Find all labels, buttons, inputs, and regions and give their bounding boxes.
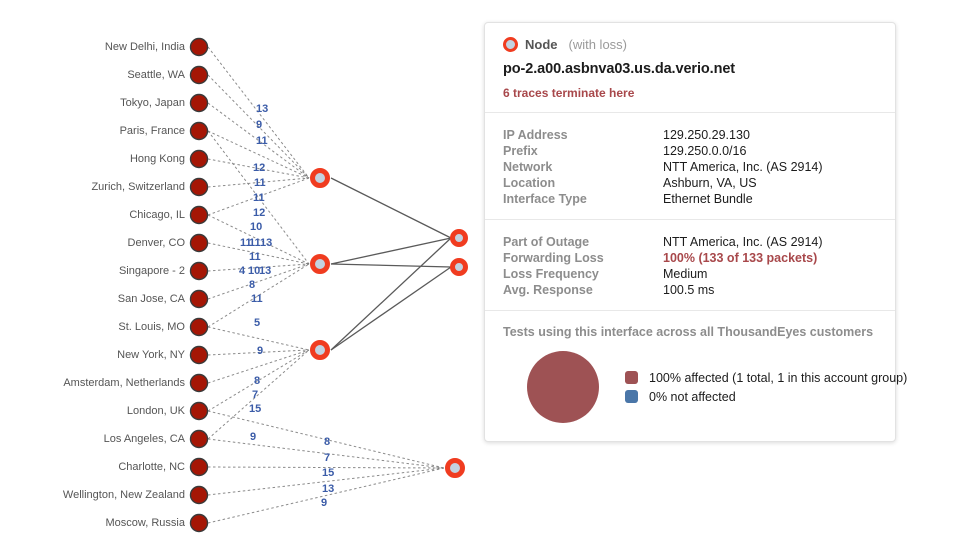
outage-info-section: Part of OutageNTT America, Inc. (AS 2914…	[485, 220, 895, 310]
edge-hop-count: 9	[250, 432, 256, 443]
legend-item: 0% not affected	[625, 390, 907, 404]
info-row-key: Part of Outage	[503, 234, 663, 250]
edge-hop-count: 5	[254, 318, 260, 329]
graph-edge-solid	[331, 238, 451, 350]
edge-hop-count: 12	[253, 208, 265, 219]
edge-hop-count: 8	[254, 376, 260, 387]
terminal-node-2[interactable]	[453, 261, 466, 274]
graph-edge-solid	[331, 267, 451, 350]
edge-hop-count: 11	[253, 193, 265, 204]
source-label: St. Louis, MO	[118, 321, 185, 333]
info-row-value: Ethernet Bundle	[663, 191, 877, 207]
hub-node-3[interactable]	[313, 343, 328, 358]
info-row-value: 129.250.0.0/16	[663, 143, 877, 159]
outage-info-table: Part of OutageNTT America, Inc. (AS 2914…	[503, 234, 877, 298]
source-node-15[interactable]	[191, 459, 208, 476]
info-row-key: Loss Frequency	[503, 266, 663, 282]
source-node-12[interactable]	[191, 375, 208, 392]
source-label: Wellington, New Zealand	[63, 489, 185, 501]
info-row-key: Forwarding Loss	[503, 250, 663, 266]
node-kind-qualifier: (with loss)	[569, 37, 628, 52]
source-node-3[interactable]	[191, 123, 208, 140]
edge-hop-count: 15	[322, 468, 334, 479]
source-node-5[interactable]	[191, 179, 208, 196]
source-label: New York, NY	[117, 349, 185, 361]
info-row: Loss FrequencyMedium	[503, 266, 877, 282]
info-row: Avg. Response100.5 ms	[503, 282, 877, 298]
edge-hop-count: 8	[324, 437, 330, 448]
node-ring-icon	[503, 37, 518, 52]
edge-hop-count: 13	[260, 238, 272, 249]
source-node-2[interactable]	[191, 95, 208, 112]
source-node-16[interactable]	[191, 487, 208, 504]
source-node-0[interactable]	[191, 39, 208, 56]
source-node-11[interactable]	[191, 347, 208, 364]
info-row-value: 129.250.29.130	[663, 127, 877, 143]
info-row: Prefix129.250.0.0/16	[503, 143, 877, 159]
source-label: Los Angeles, CA	[104, 433, 185, 445]
edge-hop-count: 11	[256, 136, 268, 147]
source-node-8[interactable]	[191, 263, 208, 280]
source-label: London, UK	[127, 405, 185, 417]
info-row: NetworkNTT America, Inc. (AS 2914)	[503, 159, 877, 175]
edge-hop-count: 11	[254, 178, 266, 189]
tests-chart-row: 100% affected (1 total, 1 in this accoun…	[503, 351, 877, 429]
info-row-key: Network	[503, 159, 663, 175]
info-row: LocationAshburn, VA, US	[503, 175, 877, 191]
info-row: IP Address129.250.29.130	[503, 127, 877, 143]
source-label: Seattle, WA	[127, 69, 185, 81]
info-row: Forwarding Loss100% (133 of 133 packets)	[503, 250, 877, 266]
edge-hop-count: 8	[249, 280, 255, 291]
edge-hop-count: 13	[322, 484, 334, 495]
info-row-key: Location	[503, 175, 663, 191]
node-kind-label: Node	[525, 37, 558, 52]
edge-hop-count: 12	[253, 163, 265, 174]
edge-hop-count: 9	[321, 498, 327, 509]
hub-node-1[interactable]	[313, 171, 328, 186]
source-node-1[interactable]	[191, 67, 208, 84]
network-graph: New Delhi, IndiaSeattle, WATokyo, JapanP…	[0, 0, 480, 554]
legend-swatch	[625, 390, 638, 403]
info-row-key: Interface Type	[503, 191, 663, 207]
info-row-value: Ashburn, VA, US	[663, 175, 877, 191]
info-row: Interface TypeEthernet Bundle	[503, 191, 877, 207]
source-label: Moscow, Russia	[106, 517, 185, 529]
source-label: Singapore - 2	[119, 265, 185, 277]
source-label: Zurich, Switzerland	[91, 181, 185, 193]
source-node-6[interactable]	[191, 207, 208, 224]
node-type-header: Node (with loss)	[503, 37, 877, 52]
graph-edges-layer	[0, 0, 480, 554]
source-label: Charlotte, NC	[118, 461, 185, 473]
edge-hop-count: 11	[249, 238, 261, 249]
source-label: New Delhi, India	[105, 41, 185, 53]
graph-edge-solid	[331, 238, 451, 264]
affected-pie-chart	[527, 351, 599, 423]
node-info-table: IP Address129.250.29.130Prefix129.250.0.…	[503, 127, 877, 207]
panel-header-section: Node (with loss) po-2.a00.asbnva03.us.da…	[485, 23, 895, 112]
info-row-key: IP Address	[503, 127, 663, 143]
source-node-7[interactable]	[191, 235, 208, 252]
pie-legend: 100% affected (1 total, 1 in this accoun…	[625, 371, 907, 404]
outage-info-rows: Part of OutageNTT America, Inc. (AS 2914…	[503, 234, 877, 298]
source-label: Amsterdam, Netherlands	[63, 377, 185, 389]
terminal-node-1[interactable]	[453, 232, 466, 245]
hub-node-4[interactable]	[448, 461, 463, 476]
node-info-rows: IP Address129.250.29.130Prefix129.250.0.…	[503, 127, 877, 207]
source-label: Chicago, IL	[129, 209, 185, 221]
info-row-value: NTT America, Inc. (AS 2914)	[663, 234, 877, 250]
edge-hop-count: 10	[250, 222, 262, 233]
node-hostname: po-2.a00.asbnva03.us.da.verio.net	[503, 61, 877, 77]
info-row: Part of OutageNTT America, Inc. (AS 2914…	[503, 234, 877, 250]
info-row-value: 100.5 ms	[663, 282, 877, 298]
graph-edge	[208, 350, 309, 439]
edge-hop-count: 13	[259, 266, 271, 277]
node-detail-panel: Node (with loss) po-2.a00.asbnva03.us.da…	[484, 22, 896, 442]
source-node-14[interactable]	[191, 431, 208, 448]
edge-hop-count: 11	[249, 252, 261, 263]
edge-hop-count: 7	[324, 453, 330, 464]
edge-hop-count: 11	[251, 294, 263, 305]
info-row-key: Prefix	[503, 143, 663, 159]
edge-hop-count: 9	[256, 120, 262, 131]
traces-terminate-note[interactable]: 6 traces terminate here	[503, 86, 877, 100]
edge-hop-count: 4	[239, 266, 245, 277]
source-node-17[interactable]	[191, 515, 208, 532]
legend-label: 100% affected (1 total, 1 in this accoun…	[649, 371, 907, 385]
source-label: Denver, CO	[128, 237, 185, 249]
source-label: Hong Kong	[130, 153, 185, 165]
edge-hop-count: 15	[249, 404, 261, 415]
legend-label: 0% not affected	[649, 390, 736, 404]
info-row-key: Avg. Response	[503, 282, 663, 298]
info-row-value: Medium	[663, 266, 877, 282]
legend-swatch	[625, 371, 638, 384]
source-label: Tokyo, Japan	[120, 97, 185, 109]
info-row-value: 100% (133 of 133 packets)	[663, 250, 877, 266]
info-row-value: NTT America, Inc. (AS 2914)	[663, 159, 877, 175]
source-label: Paris, France	[120, 125, 185, 137]
edge-hop-count: 9	[257, 346, 263, 357]
hub-node-2[interactable]	[313, 257, 328, 272]
node-info-section: IP Address129.250.29.130Prefix129.250.0.…	[485, 113, 895, 219]
graph-edge-solid	[331, 178, 451, 238]
graph-edge-solid	[331, 264, 451, 267]
source-node-13[interactable]	[191, 403, 208, 420]
source-node-4[interactable]	[191, 151, 208, 168]
source-node-10[interactable]	[191, 319, 208, 336]
source-node-9[interactable]	[191, 291, 208, 308]
source-label: San Jose, CA	[118, 293, 185, 305]
legend-item: 100% affected (1 total, 1 in this accoun…	[625, 371, 907, 385]
edge-hop-count: 7	[252, 390, 258, 401]
tests-section-title: Tests using this interface across all Th…	[503, 325, 877, 339]
edge-hop-count: 13	[256, 104, 268, 115]
tests-section: Tests using this interface across all Th…	[485, 311, 895, 441]
